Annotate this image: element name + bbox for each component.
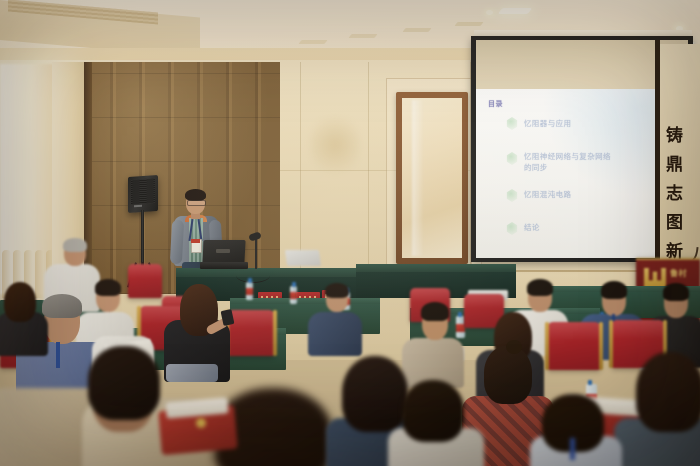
name-badge-header — [191, 239, 200, 243]
chair-frame-right — [273, 310, 277, 356]
banner-title: 鲁村 — [670, 268, 687, 279]
handbag — [166, 364, 218, 382]
presenter-arm-left — [170, 220, 184, 265]
attendee-hair — [402, 380, 464, 442]
banquet-chair — [228, 310, 274, 356]
bottle-cap — [292, 282, 296, 287]
attendee-hair — [63, 238, 87, 252]
attendee-hair — [42, 294, 82, 318]
mirror-reflection — [412, 100, 424, 256]
slide-item-3: 忆阻混沌电路 — [524, 190, 571, 200]
lanyard-strap — [570, 438, 575, 460]
ceiling-slot — [454, 22, 483, 26]
bottle-cap — [248, 278, 252, 283]
scroll-character-1: 铸 — [666, 128, 683, 145]
attendee — [530, 396, 622, 466]
attendee-hair — [636, 352, 700, 432]
slide-item-2: 忆阻神经网络与复杂网络 — [524, 152, 611, 162]
attendee-photographer — [164, 286, 230, 382]
ceiling-slot — [298, 40, 327, 44]
attendee-laptop[interactable] — [285, 250, 321, 266]
ceiling-light — [498, 8, 533, 14]
microphone-stand — [255, 237, 257, 269]
banquet-chair — [548, 322, 600, 370]
attendee-hair — [484, 346, 532, 404]
chair-frame-left — [609, 320, 613, 368]
scroll-character-2: 鼎 — [666, 157, 683, 174]
slide-item-4: 结论 — [524, 223, 540, 233]
marble-seam — [368, 62, 369, 292]
scroll-character-4: 图 — [666, 215, 683, 232]
ceiling-slot — [402, 28, 431, 32]
attendee-hair — [4, 282, 36, 322]
lanyard-strap — [56, 342, 60, 368]
attendee — [388, 384, 484, 466]
attendee-hair — [663, 283, 689, 301]
laptop-logo — [216, 249, 230, 253]
microphone-cable — [236, 268, 270, 283]
water-bottle — [246, 278, 253, 300]
conference-photo: 目录 忆阻器与应用 忆阻神经网络与复杂网络 的同步 忆阻混沌电路 结论 铸 鼎 … — [0, 0, 700, 466]
bottle-label — [246, 288, 253, 295]
attendee-hair — [421, 302, 449, 321]
attendee — [0, 282, 48, 352]
attendee-hair-bun — [506, 340, 522, 354]
slide-item-2-cont: 的同步 — [524, 163, 548, 173]
attendee-hair — [325, 283, 349, 298]
chair-frame-right — [599, 322, 603, 370]
pa-speaker-grille — [131, 178, 155, 205]
mirror-glass — [402, 98, 462, 258]
bottle-cap — [588, 380, 592, 385]
slide-title: 目录 — [488, 99, 503, 109]
attendee-hair — [88, 346, 160, 420]
marble-vein — [310, 110, 360, 180]
bottle-label — [290, 292, 297, 299]
hexagon-bullet-icon — [506, 222, 518, 235]
hexagon-bullet-icon — [506, 152, 518, 165]
scroll-rail — [655, 40, 660, 278]
ceiling-downlight — [486, 10, 493, 15]
glasses-icon — [187, 200, 206, 206]
bag-logo-icon — [196, 418, 206, 428]
hexagon-bullet-icon — [506, 189, 518, 202]
attendee-jacket — [308, 312, 362, 356]
attendee-hair — [527, 279, 553, 296]
attendee — [84, 356, 166, 466]
attendee-hair — [601, 281, 627, 299]
ceiling-slot — [348, 34, 377, 38]
slide-item-1: 忆阻器与应用 — [524, 119, 571, 129]
mountain-logo-icon — [644, 268, 666, 288]
attendee — [628, 352, 700, 466]
hexagon-bullet-icon — [506, 117, 518, 130]
attendee — [308, 286, 362, 352]
water-bottle — [290, 282, 297, 304]
attendee-hair — [95, 279, 121, 296]
scroll-character-3: 志 — [666, 186, 683, 203]
